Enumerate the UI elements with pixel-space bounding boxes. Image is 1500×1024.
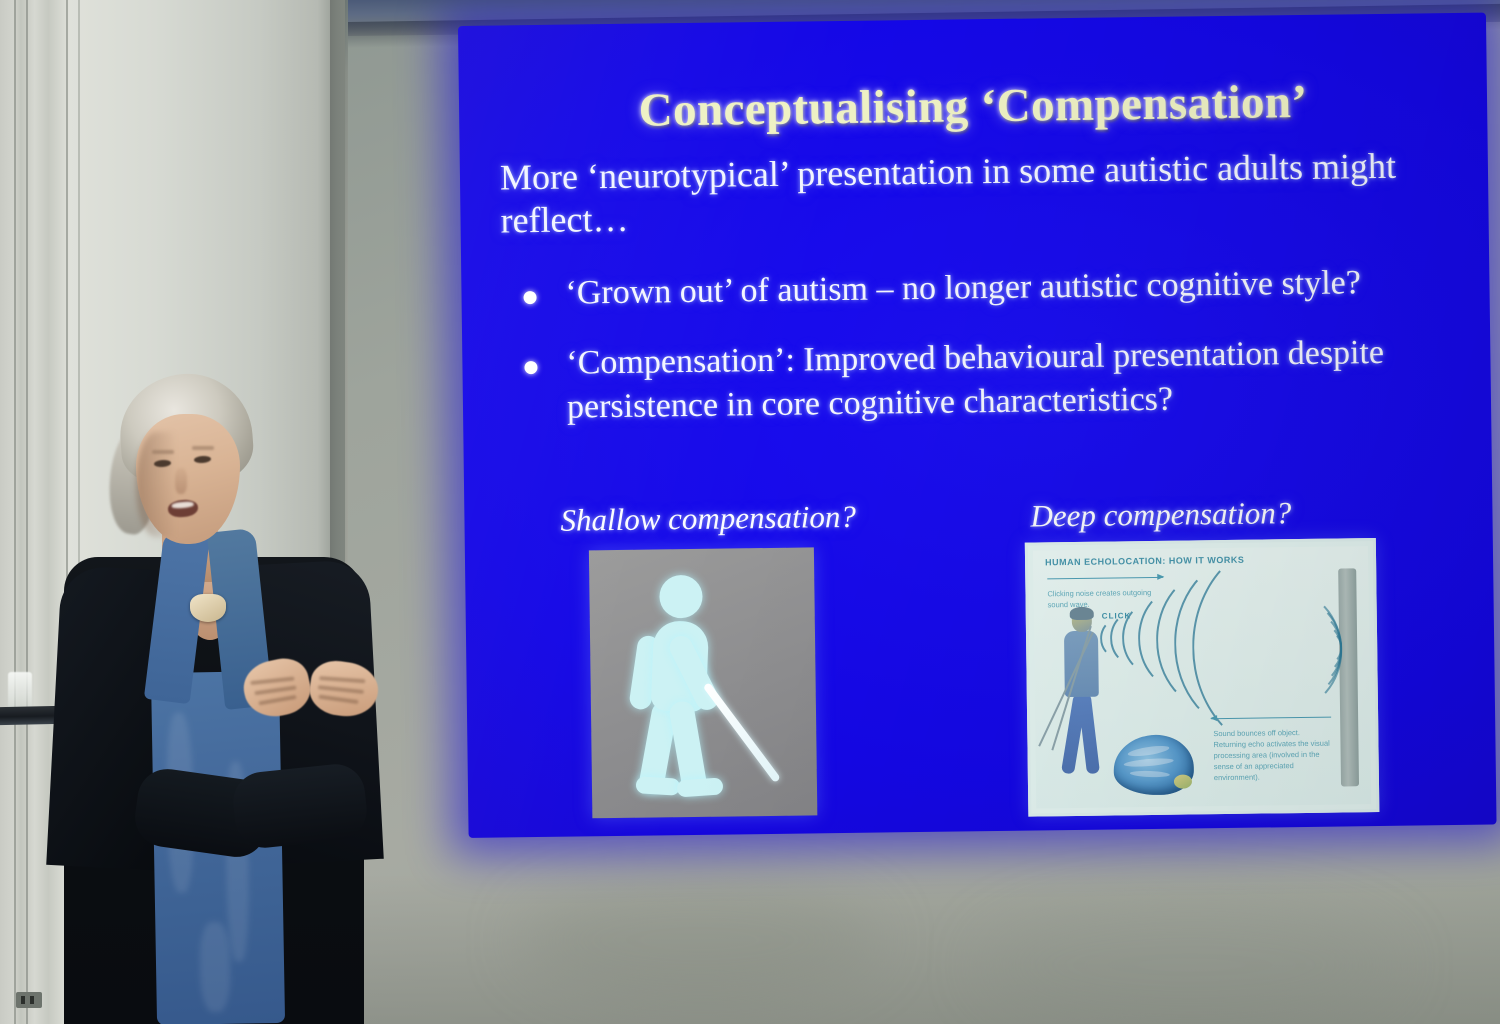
slide-bullet-item: ‘Grown out’ of autism – no longer autist…	[513, 260, 1469, 317]
brain-stem	[1174, 774, 1192, 788]
face-shadow	[136, 432, 176, 537]
eyebrow-right	[192, 446, 214, 450]
blind-person-with-cane-icon	[589, 547, 817, 818]
pictogram-foot-back	[636, 776, 681, 795]
pictogram-foot-front	[676, 777, 723, 797]
blind-person-pictogram-image	[589, 547, 817, 818]
wall-seam	[14, 0, 16, 1024]
echo-return-arc	[1314, 630, 1342, 664]
echo-person-legs	[1067, 694, 1098, 776]
echo-person-hair	[1070, 607, 1094, 620]
echo-note-bottom: Sound bounces off object. Returning echo…	[1213, 727, 1334, 784]
projected-slide: Conceptualising ‘Compensation’ More ‘neu…	[458, 13, 1497, 838]
wall-seam	[26, 0, 28, 1024]
presenter	[58, 372, 388, 1024]
screenshot-root: Conceptualising ‘Compensation’ More ‘neu…	[0, 0, 1500, 1024]
pictogram-head	[659, 575, 703, 619]
pendant-necklace	[190, 594, 226, 622]
white-cane-icon	[703, 682, 781, 783]
caption-deep-compensation: Deep compensation?	[1030, 495, 1291, 534]
echo-arrow-outgoing	[1047, 577, 1163, 580]
floor-shadow	[348, 874, 1500, 1024]
caption-shallow-compensation: Shallow compensation?	[560, 499, 856, 539]
human-echolocation-diagram-image: HUMAN ECHOLOCATION: HOW IT WORKS Clickin…	[1025, 538, 1380, 817]
echo-diagram-canvas: HUMAN ECHOLOCATION: HOW IT WORKS Clickin…	[1033, 546, 1371, 808]
echo-person-torso	[1064, 631, 1099, 697]
wall-socket	[16, 992, 42, 1008]
slide-title: Conceptualising ‘Compensation’	[459, 73, 1488, 140]
nose	[175, 468, 187, 494]
slide-bullet-list: ‘Grown out’ of autism – no longer autist…	[513, 260, 1471, 456]
brain-illustration	[1113, 734, 1194, 795]
eyebrow-left	[152, 450, 174, 454]
arm-right	[230, 761, 369, 850]
echo-walking-person	[1056, 609, 1114, 780]
slide-lead-text: More ‘neurotypical’ presentation in some…	[500, 144, 1467, 243]
slide-surface: Conceptualising ‘Compensation’ More ‘neu…	[458, 13, 1497, 838]
slide-bullet-item: ‘Compensation’: Improved behavioural pre…	[514, 330, 1471, 431]
